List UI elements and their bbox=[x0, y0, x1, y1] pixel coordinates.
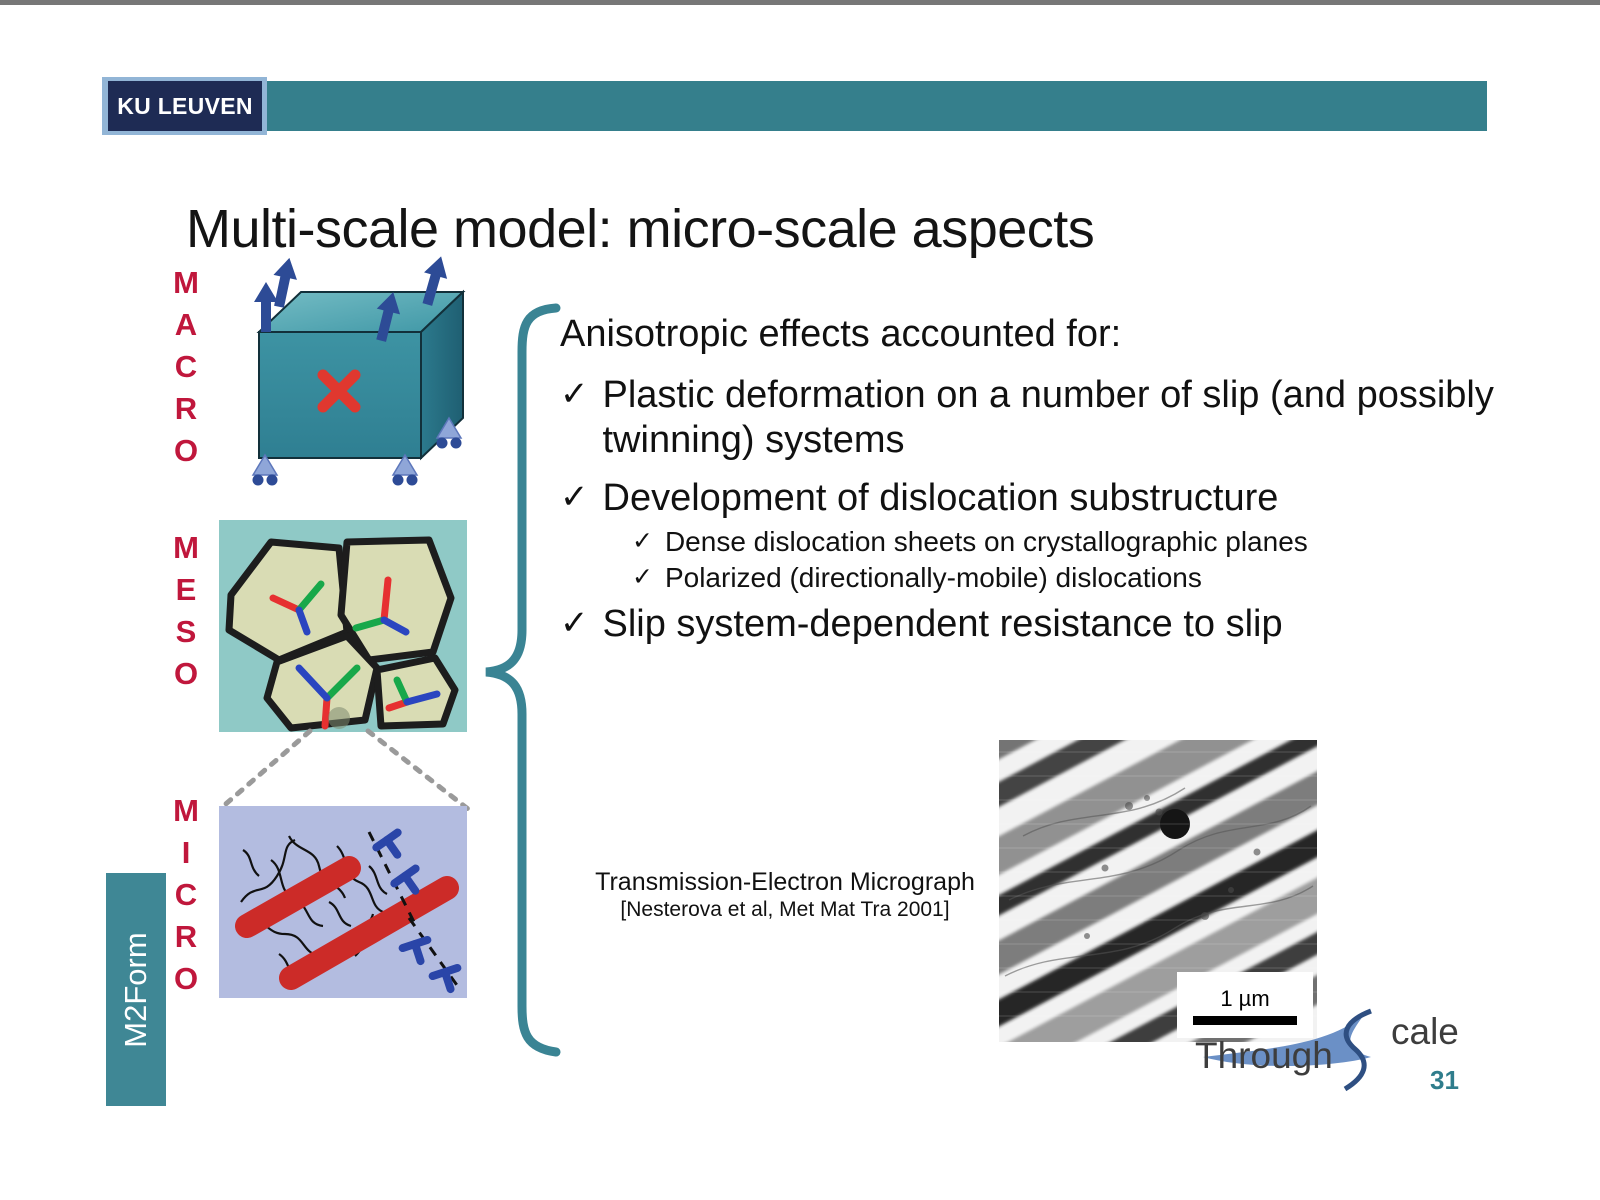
scale-letter: C bbox=[163, 874, 209, 916]
bullet-item-4: ✓ Polarized (directionally-mobile) dislo… bbox=[560, 561, 1500, 595]
scale-letter: R bbox=[163, 388, 209, 430]
check-icon: ✓ bbox=[560, 602, 589, 647]
scale-letter: O bbox=[163, 430, 209, 472]
figure-caption-title: Transmission-Electron Micrograph bbox=[575, 868, 995, 897]
bullet-item-5-text: Slip system-dependent resistance to slip bbox=[603, 602, 1501, 647]
check-icon: ✓ bbox=[560, 476, 589, 521]
scale-label-micro: MICRO bbox=[163, 790, 209, 1000]
scale-letter: M bbox=[163, 262, 209, 304]
ku-leuven-logo: KU LEUVEN bbox=[108, 81, 262, 131]
check-icon: ✓ bbox=[632, 561, 653, 595]
figure-caption: Transmission-Electron Micrograph [Nester… bbox=[575, 868, 995, 922]
scale-letter: A bbox=[163, 304, 209, 346]
bullet-item-4-text: Polarized (directionally-mobile) disloca… bbox=[665, 561, 1202, 595]
bullet-item-3: ✓ Dense dislocation sheets on crystallog… bbox=[560, 525, 1500, 559]
bullet-item-1: ✓ Plastic deformation on a number of sli… bbox=[560, 373, 1500, 463]
scale-letter: C bbox=[163, 346, 209, 388]
m2form-side-tab: M2Form bbox=[106, 873, 166, 1106]
scale-letter: E bbox=[163, 569, 209, 611]
content-bullet-list: Anisotropic effects accounted for: ✓ Pla… bbox=[560, 312, 1500, 650]
throughscale-word-cale: cale bbox=[1391, 1011, 1459, 1053]
micro-dislocation-illustration bbox=[219, 806, 467, 998]
slide-canvas: KU LEUVEN Multi-scale model: micro-scale… bbox=[0, 0, 1600, 1200]
throughscale-word-through: Through bbox=[1195, 1035, 1333, 1077]
bullet-item-2-text: Development of dislocation substructure bbox=[603, 476, 1501, 521]
scale-letter: I bbox=[163, 832, 209, 874]
bullet-item-1-text: Plastic deformation on a number of slip … bbox=[603, 373, 1501, 463]
scale-letter: O bbox=[163, 653, 209, 695]
header-band bbox=[102, 81, 1487, 131]
macro-cube-illustration bbox=[215, 250, 475, 490]
bullet-item-3-text: Dense dislocation sheets on crystallogra… bbox=[665, 525, 1308, 559]
scale-letter: S bbox=[163, 611, 209, 653]
scale-label-macro-letters: MACRO bbox=[163, 262, 209, 472]
scale-letter: O bbox=[163, 958, 209, 1000]
scale-label-meso: MESO bbox=[163, 527, 209, 695]
tem-micrograph: 1 µm bbox=[999, 740, 1317, 1042]
scale-label-meso-letters: MESO bbox=[163, 527, 209, 695]
zoom-connector-lines bbox=[200, 725, 500, 815]
m2form-label: M2Form bbox=[118, 932, 154, 1047]
content-lead: Anisotropic effects accounted for: bbox=[560, 312, 1500, 357]
bullet-item-2: ✓ Development of dislocation substructur… bbox=[560, 476, 1500, 521]
scale-label-micro-letters: MICRO bbox=[163, 790, 209, 1000]
scale-letter: M bbox=[163, 527, 209, 569]
scale-letter: R bbox=[163, 916, 209, 958]
figure-caption-citation: [Nesterova et al, Met Mat Tra 2001] bbox=[575, 897, 995, 922]
top-edge-line bbox=[0, 0, 1600, 5]
check-icon: ✓ bbox=[632, 525, 653, 559]
check-icon: ✓ bbox=[560, 373, 589, 463]
bullet-item-5: ✓ Slip system-dependent resistance to sl… bbox=[560, 602, 1500, 647]
scale-label-macro: MACRO bbox=[163, 262, 209, 472]
page-number: 31 bbox=[1430, 1065, 1459, 1096]
ku-leuven-logo-text: KU LEUVEN bbox=[117, 93, 253, 120]
meso-grains-illustration bbox=[219, 520, 467, 732]
